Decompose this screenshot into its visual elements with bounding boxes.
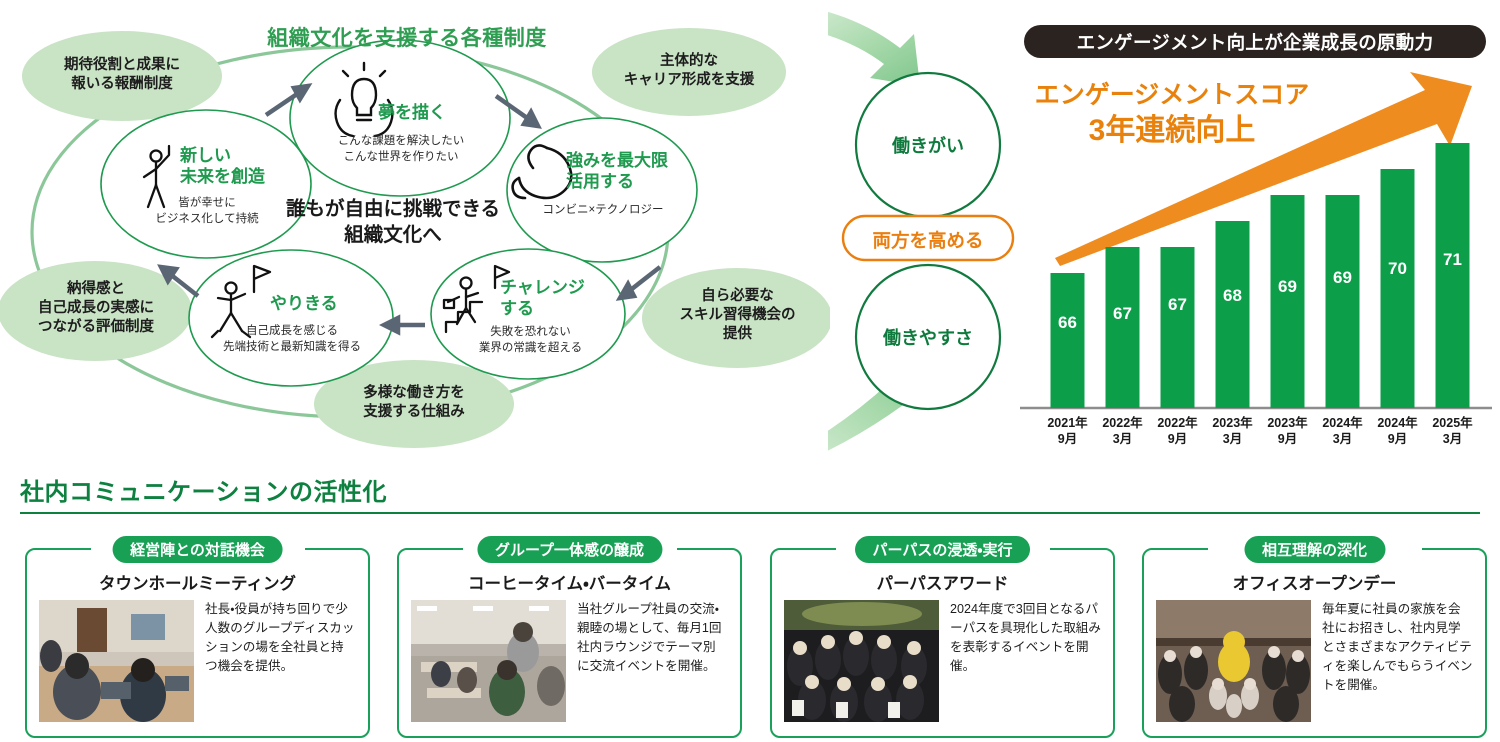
lounge-event-photo: [411, 600, 566, 722]
value-head-challenge: チャレンジ する: [500, 277, 610, 320]
bar-value-label: 67: [1101, 304, 1145, 324]
card-badge: 相互理解の深化: [1244, 536, 1385, 563]
label-hatarakigai: 働きがい: [843, 132, 1013, 158]
bar-value-label: 70: [1376, 259, 1420, 279]
chart-bar: [1381, 169, 1415, 408]
family-event-photo: [1156, 600, 1311, 722]
bar-category-label: 2022年 9月: [1148, 416, 1208, 447]
card-badge-text: パーパスの浸透・実行: [873, 539, 1013, 560]
bar-category-label: 2022年 3月: [1093, 416, 1153, 447]
card-body: 2024年度で3回目となるパーパスを具現化した取組みを表彰するイベントを開催。: [784, 600, 1101, 724]
card-body: 毎年夏に社員の家族を会社にお招きし、社内見学とさまざまなアクティビティを楽しんで…: [1156, 600, 1473, 724]
chart-bar: [1106, 247, 1140, 408]
bar-value-label: 71: [1431, 250, 1475, 270]
card-description: 社長・役員が持ち回りで少人数のグループディスカッションの場を全社員と持つ機会を提…: [205, 600, 356, 724]
communication-card-coffee-bar-time[interactable]: グループ一体感の醸成 コーヒータイム・バータイム: [397, 536, 742, 738]
bar-value-label: 67: [1156, 295, 1200, 315]
value-sub-challenge: 失敗を恐れない 業界の常識を超える: [443, 325, 618, 356]
card-title: コーヒータイム・バータイム: [397, 570, 742, 594]
card-body: 社長・役員が持ち回りで少人数のグループディスカッションの場を全社員と持つ機会を提…: [39, 600, 356, 724]
cycle-title: 組織文化を支援する各種制度: [262, 22, 552, 52]
organizational-culture-cycle: 組織文化を支援する各種制度 誰もが自由に挑戦できる 組織文化へ 夢を描く こんな…: [0, 0, 830, 470]
label-raise-both: 両方を高める: [843, 227, 1013, 253]
card-title: タウンホールミーティング: [25, 570, 370, 594]
bar-category-label: 2023年 9月: [1258, 416, 1318, 447]
chart-bar: [1326, 195, 1360, 408]
pod-label-flexible-work: 多様な働き方を 支援する仕組み: [314, 384, 514, 422]
card-badge-text: グループ一体感の醸成: [495, 539, 644, 560]
card-badge: 経営陣との対話機会: [112, 536, 283, 563]
value-head-strength: 強みを最大限 活用する: [566, 150, 686, 193]
section-divider: [20, 512, 1480, 514]
engagement-score-chart-panel: エンゲージメント向上が企業成長の原動力 エンゲージメントスコア 3年連続向上 6…: [1010, 0, 1500, 470]
card-badge-text: 経営陣との対話機会: [130, 539, 265, 560]
card-description: 毎年夏に社員の家族を会社にお招きし、社内見学とさまざまなアクティビティを楽しんで…: [1322, 600, 1473, 724]
bar-category-label: 2024年 3月: [1313, 416, 1373, 447]
value-sub-future: 皆が幸せに ビジネス化して持続: [118, 196, 296, 227]
chart-bar: [1216, 221, 1250, 408]
bar-category-label: 2021年 9月: [1038, 416, 1098, 447]
pod-label-reward-system: 期待役割と成果に 報いる報酬制度: [22, 56, 222, 94]
communication-card-office-open-day[interactable]: 相互理解の深化 オフィスオープンデー: [1142, 536, 1487, 738]
arrow-to-engagement-top: [828, 2, 920, 86]
pod-label-career-support: 主体的な キャリア形成を支援: [589, 52, 789, 90]
value-sub-achieve: 自己成長を感じる 先端技術と最新知識を得る: [196, 324, 388, 355]
value-sub-strength: コンビニ×テクノロジー: [518, 203, 688, 219]
chart-bar: [1436, 143, 1470, 408]
bar-value-label: 68: [1211, 286, 1255, 306]
card-description: 2024年度で3回目となるパーパスを具現化した取組みを表彰するイベントを開催。: [950, 600, 1101, 724]
pod-label-skill-opportunity: 自ら必要な スキル習得機会の 提供: [640, 287, 835, 344]
internal-communication-section: 社内コミュニケーションの活性化 経営陣との対話機会 タウンホールミーティング: [0, 470, 1500, 742]
card-badge: グループ一体感の醸成: [477, 536, 662, 563]
bar-category-label: 2024年 9月: [1368, 416, 1428, 447]
card-title: オフィスオープンデー: [1142, 570, 1487, 594]
chart-graphics: [1010, 0, 1500, 470]
core-culture-statement: 誰もが自由に挑戦できる 組織文化へ: [268, 196, 518, 249]
pod-label-evaluation-system: 納得感と 自己成長の実感に つながる評価制度: [0, 280, 192, 337]
value-circle-achieve: [189, 250, 393, 386]
value-sub-dream: こんな課題を解決したい こんな世界を作りたい: [302, 134, 500, 165]
meeting-room-photo: [39, 600, 194, 722]
chart-bar: [1051, 273, 1085, 408]
engagement-link-circles: 働きがい 両方を高める 働きやすさ: [828, 0, 1028, 470]
section-title: 社内コミュニケーションの活性化: [20, 472, 387, 507]
communication-card-town-hall-meeting[interactable]: 経営陣との対話機会 タウンホールミーティング 社長・役員が持ち回りで少人数のグル…: [25, 536, 370, 738]
bar-category-label: 2025年 3月: [1423, 416, 1483, 447]
bar-value-label: 66: [1046, 313, 1090, 333]
card-description: 当社グループ社員の交流・親睦の場として、毎月1回社内ラウンジでテーマ別に交流イベ…: [577, 600, 728, 724]
bar-category-label: 2023年 3月: [1203, 416, 1263, 447]
value-head-achieve: やりきる: [270, 293, 390, 314]
communication-card-purpose-award[interactable]: パーパスの浸透・実行 パーパスアワード: [770, 536, 1115, 738]
card-title: パーパスアワード: [770, 570, 1115, 594]
chart-bar: [1271, 195, 1305, 408]
value-head-dream: 夢を描く: [378, 102, 508, 123]
bar-value-label: 69: [1266, 277, 1310, 297]
bar-value-label: 69: [1321, 268, 1365, 288]
group-award-photo: [784, 600, 939, 722]
chart-bar: [1161, 247, 1195, 408]
infographic-root: 組織文化を支援する各種制度 誰もが自由に挑戦できる 組織文化へ 夢を描く こんな…: [0, 0, 1500, 742]
card-badge-text: 相互理解の深化: [1262, 539, 1367, 560]
value-head-future: 新しい 未来を創造: [180, 145, 300, 188]
card-badge: パーパスの浸透・実行: [855, 536, 1031, 563]
label-hatarakiyasusa: 働きやすさ: [843, 324, 1013, 350]
card-body: 当社グループ社員の交流・親睦の場として、毎月1回社内ラウンジでテーマ別に交流イベ…: [411, 600, 728, 724]
